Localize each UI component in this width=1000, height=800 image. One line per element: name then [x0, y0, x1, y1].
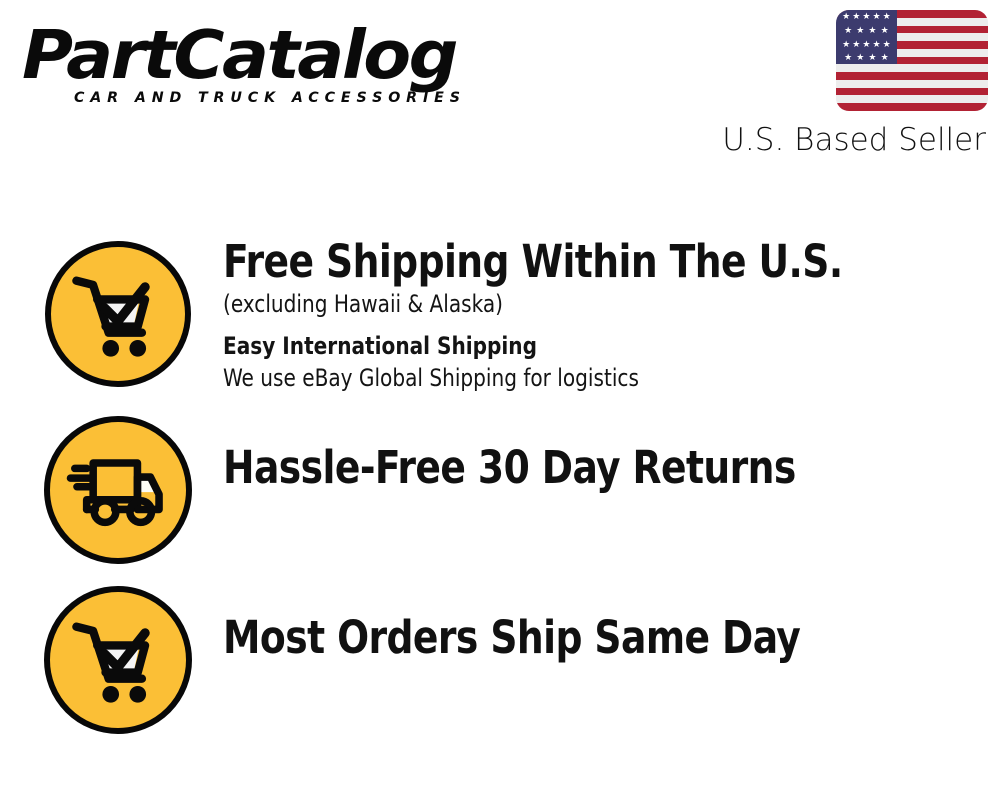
flag-stripe — [836, 72, 988, 80]
flag-stripe — [836, 64, 988, 72]
flag-star-icon: ★ — [852, 40, 861, 49]
feature-subtext-international-title: Easy International Shipping — [223, 330, 927, 362]
seller-badge: ★★★★★★★★★★★★★★★★★★ U.S. Based Seller — [713, 10, 988, 157]
flag-star-icon: ★ — [880, 26, 889, 35]
feature-row: Most Orders Ship Same Day — [40, 582, 980, 747]
flag-star-icon: ★ — [880, 53, 889, 62]
feature-text-block: Free Shipping Within The U.S. (excluding… — [195, 232, 980, 394]
flag-stripe — [836, 103, 988, 111]
feature-icon-wrapper — [40, 232, 195, 387]
delivery-truck-icon — [44, 416, 192, 564]
us-flag-icon: ★★★★★★★★★★★★★★★★★★ — [836, 10, 988, 111]
brand-logo[interactable]: PartCatalog CAR AND TRUCK ACCESSORIES — [22, 22, 492, 117]
flag-star-icon: ★ — [882, 40, 891, 49]
flag-stripe — [836, 80, 988, 88]
flag-star-icon: ★ — [862, 40, 871, 49]
flag-star-icon: ★ — [856, 53, 865, 62]
brand-tagline: CAR AND TRUCK ACCESSORIES — [74, 90, 466, 106]
flag-canton: ★★★★★★★★★★★★★★★★★★ — [836, 10, 897, 64]
feature-row: Hassle-Free 30 Day Returns — [40, 412, 980, 577]
flag-star-icon: ★ — [868, 53, 877, 62]
feature-icon-wrapper — [40, 412, 195, 564]
flag-star-icon: ★ — [842, 12, 851, 21]
flag-star-icon: ★ — [882, 12, 891, 21]
shopping-cart-check-icon — [44, 586, 192, 734]
feature-icon-wrapper — [40, 582, 195, 734]
flag-star-icon: ★ — [844, 26, 853, 35]
flag-star-icon: ★ — [842, 40, 851, 49]
feature-heading: Most Orders Ship Same Day — [223, 612, 927, 664]
flag-star-icon: ★ — [856, 26, 865, 35]
feature-subtext-exclusion: (excluding Hawaii & Alaska) — [223, 288, 927, 320]
feature-text-block: Most Orders Ship Same Day — [195, 582, 980, 664]
brand-wordmark: PartCatalog — [22, 22, 511, 89]
seller-label: U.S. Based Seller — [713, 123, 988, 157]
feature-heading: Free Shipping Within The U.S. — [223, 236, 927, 288]
flag-star-icon: ★ — [844, 53, 853, 62]
feature-text-block: Hassle-Free 30 Day Returns — [195, 412, 980, 494]
flag-star-icon: ★ — [872, 12, 881, 21]
feature-heading: Hassle-Free 30 Day Returns — [223, 442, 927, 494]
flag-star-icon: ★ — [872, 40, 881, 49]
flag-stripe — [836, 95, 988, 103]
page-header: PartCatalog CAR AND TRUCK ACCESSORIES ★★… — [0, 0, 1000, 175]
flag-stripe — [836, 88, 988, 96]
flag-star-icon: ★ — [868, 26, 877, 35]
shopping-cart-check-icon — [45, 241, 191, 387]
feature-row: Free Shipping Within The U.S. (excluding… — [40, 232, 980, 407]
flag-star-icon: ★ — [862, 12, 871, 21]
flag-star-icon: ★ — [852, 12, 861, 21]
feature-subtext-international-detail: We use eBay Global Shipping for logistic… — [223, 362, 927, 394]
